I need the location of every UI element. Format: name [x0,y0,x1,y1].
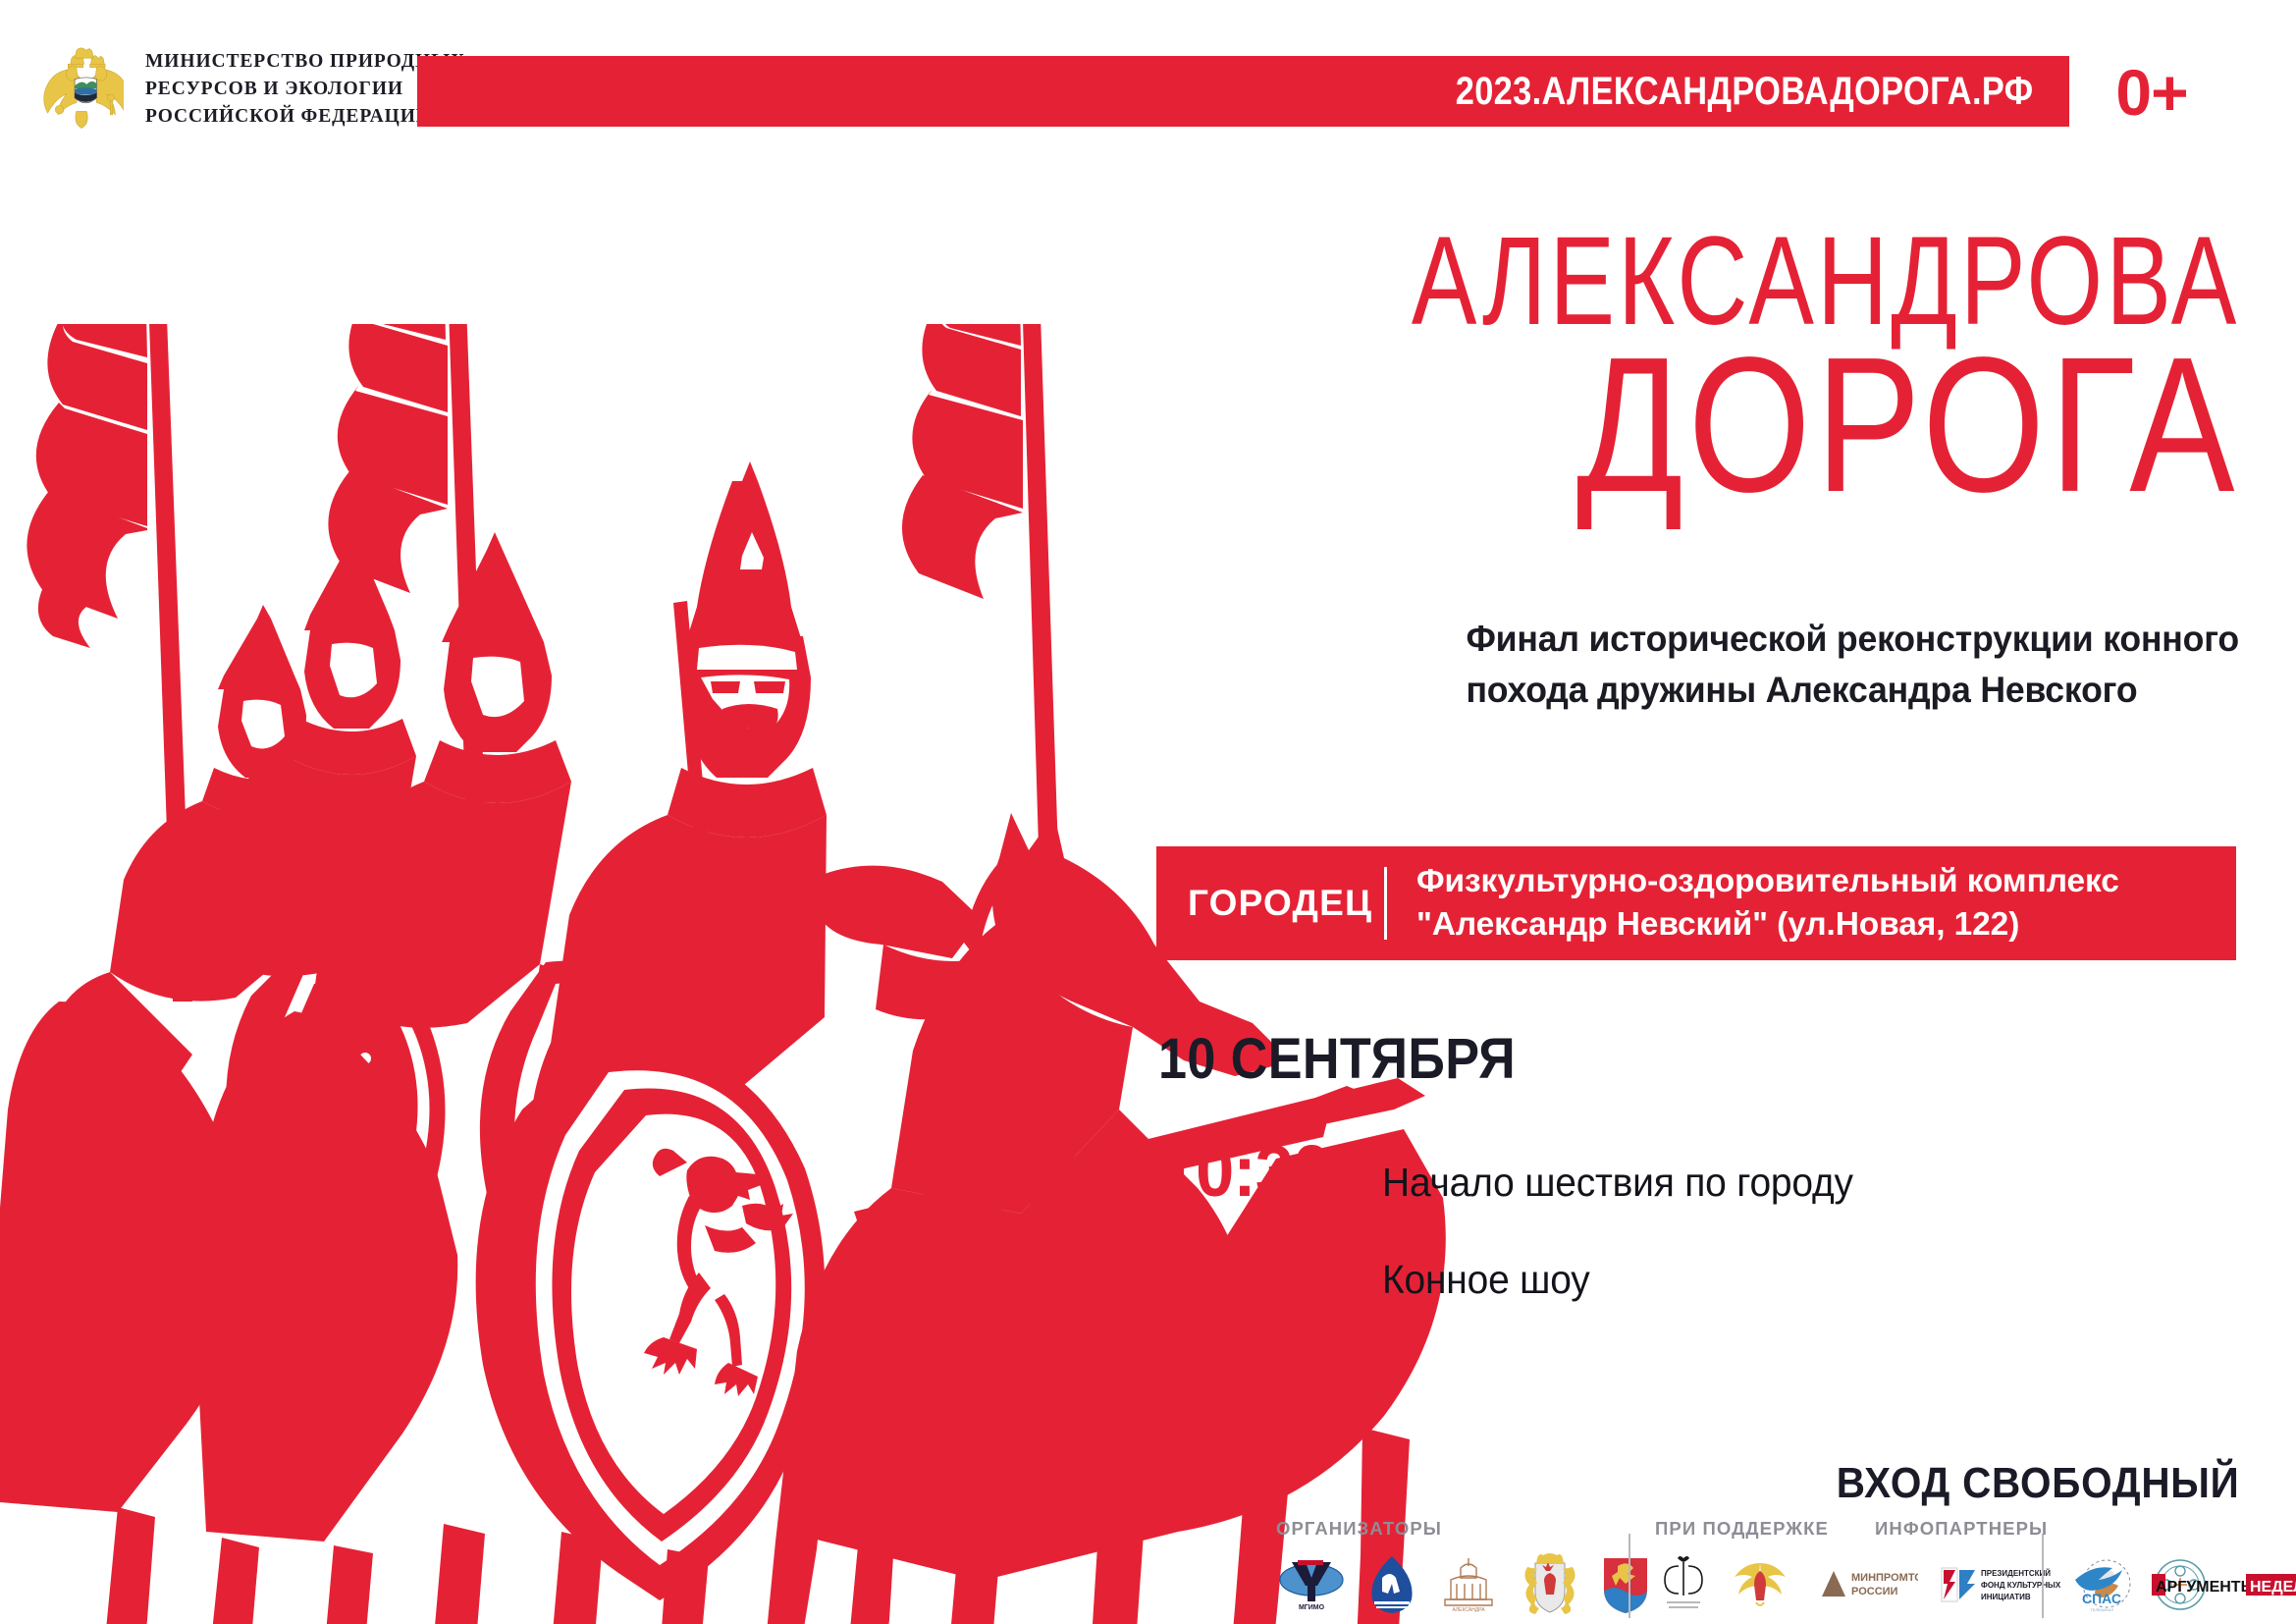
site-url-text[interactable]: 2023.АЛЕКСАНДРОВАДОРОГА.РФ [1456,70,2069,114]
ministry-of-defence-logo[interactable] [1730,1552,1790,1617]
svg-text:АЛЕКСАНДРА: АЛЕКСАНДРА [1452,1607,1485,1613]
nizhny-novgorod-region-coat-of-arms[interactable] [1518,1552,1582,1617]
poster-title: АЛЕКСАНДРОВА ДОРОГА [1178,224,2239,516]
svg-text:ПРЕЗИДЕНТСКИЙ: ПРЕЗИДЕНТСКИЙ [1981,1569,2051,1578]
nevsky-museum-logo[interactable]: АЛЕКСАНДРА [1437,1552,1500,1617]
poster-subtitle: Финал исторической реконструкции конного… [1466,614,2239,716]
academy-logo[interactable] [1364,1552,1419,1617]
schedule-label: Конное шоу [1382,1257,1590,1303]
schedule-time: 10:30 [1158,1129,1371,1213]
footer-group-organizers: ОРГАНИЗАТОРЫ МГИМО [1276,1518,1651,1617]
venue-city: ГОРОДЕЦ [1156,883,1384,924]
schedule-time: 14:00 [1158,1226,1371,1310]
svg-text:РОССИИ: РОССИИ [1851,1586,1898,1597]
mgimo-logo[interactable]: МГИМО [1276,1552,1347,1617]
age-rating-badge: 0+ [2107,47,2197,137]
svg-text:ИНИЦИАТИВ: ИНИЦИАТИВ [1981,1593,2031,1601]
footer-divider [2042,1534,2044,1618]
ministry-logo-block: МИНИСТЕРСТВО ПРИРОДНЫХ РЕСУРСОВ И ЭКОЛОГ… [39,47,465,132]
svg-text:АРГУМЕНТЫ: АРГУМЕНТЫ [2156,1579,2256,1596]
svg-text:МГИМО: МГИМО [1299,1604,1325,1611]
spas-tv-logo[interactable]: СПАС ТЕЛЕКАНАЛ [2069,1552,2134,1617]
footer-caption-organizers: ОРГАНИЗАТОРЫ [1276,1518,1651,1540]
minpromtorg-logo[interactable]: МИНПРОМТОРГ РОССИИ [1808,1552,1918,1617]
footer-partners: ОРГАНИЗАТОРЫ МГИМО [0,1518,2296,1624]
federation-council-logo[interactable] [1655,1552,1712,1617]
svg-text:ФОНД КУЛЬТУРНЫХ: ФОНД КУЛЬТУРНЫХ [1981,1581,2061,1590]
double-headed-eagle-crest-icon [39,47,124,132]
schedule-row: 10:30 Начало шествия по городу [1158,1129,1878,1213]
svg-text:ТЕЛЕКАНАЛ: ТЕЛЕКАНАЛ [2090,1607,2113,1612]
venue-divider [1384,867,1387,940]
svg-text:НЕДЕЛИ: НЕДЕЛИ [2250,1579,2296,1596]
schedule-label: Начало шествия по городу [1382,1160,1853,1206]
poster-root: МИНИСТЕРСТВО ПРИРОДНЫХ РЕСУРСОВ И ЭКОЛОГ… [0,0,2296,1624]
venue-banner: ГОРОДЕЦ Физкультурно-оздоровительный ком… [1156,846,2236,960]
schedule-row: 14:00 Конное шоу [1158,1226,1878,1310]
svg-text:МИНПРОМТОРГ: МИНПРОМТОРГ [1851,1572,1918,1584]
footer-group-infopartners: ИНФОПАРТНЕРЫ СПАС ТЕЛЕКАНАЛ АРГУМЕНТЫ НЕ… [2069,1518,2296,1617]
gorodets-coat-of-arms[interactable] [1600,1552,1651,1617]
venue-address: Физкультурно-оздоровительный комплекс "А… [1416,860,2119,947]
svg-text:СПАС: СПАС [2082,1591,2121,1606]
event-schedule: 10:30 Начало шествия по городу 14:00 Кон… [1158,1129,1878,1324]
title-line-2: ДОРОГА [1368,334,2239,516]
site-url-banner: 2023.АЛЕКСАНДРОВАДОРОГА.РФ [417,56,2069,127]
footer-caption-infopartners: ИНФОПАРТНЕРЫ [1875,1518,2296,1540]
footer-divider [1629,1534,1630,1618]
argumenty-nedeli-logo[interactable]: АРГУМЕНТЫ НЕДЕЛИ [2152,1552,2296,1617]
admission-note: ВХОД СВОБОДНЫЙ [1836,1459,2239,1508]
nevsky-horsemen-illustration [0,324,1531,1624]
event-date: 10 СЕНТЯБРЯ [1158,1026,1516,1092]
